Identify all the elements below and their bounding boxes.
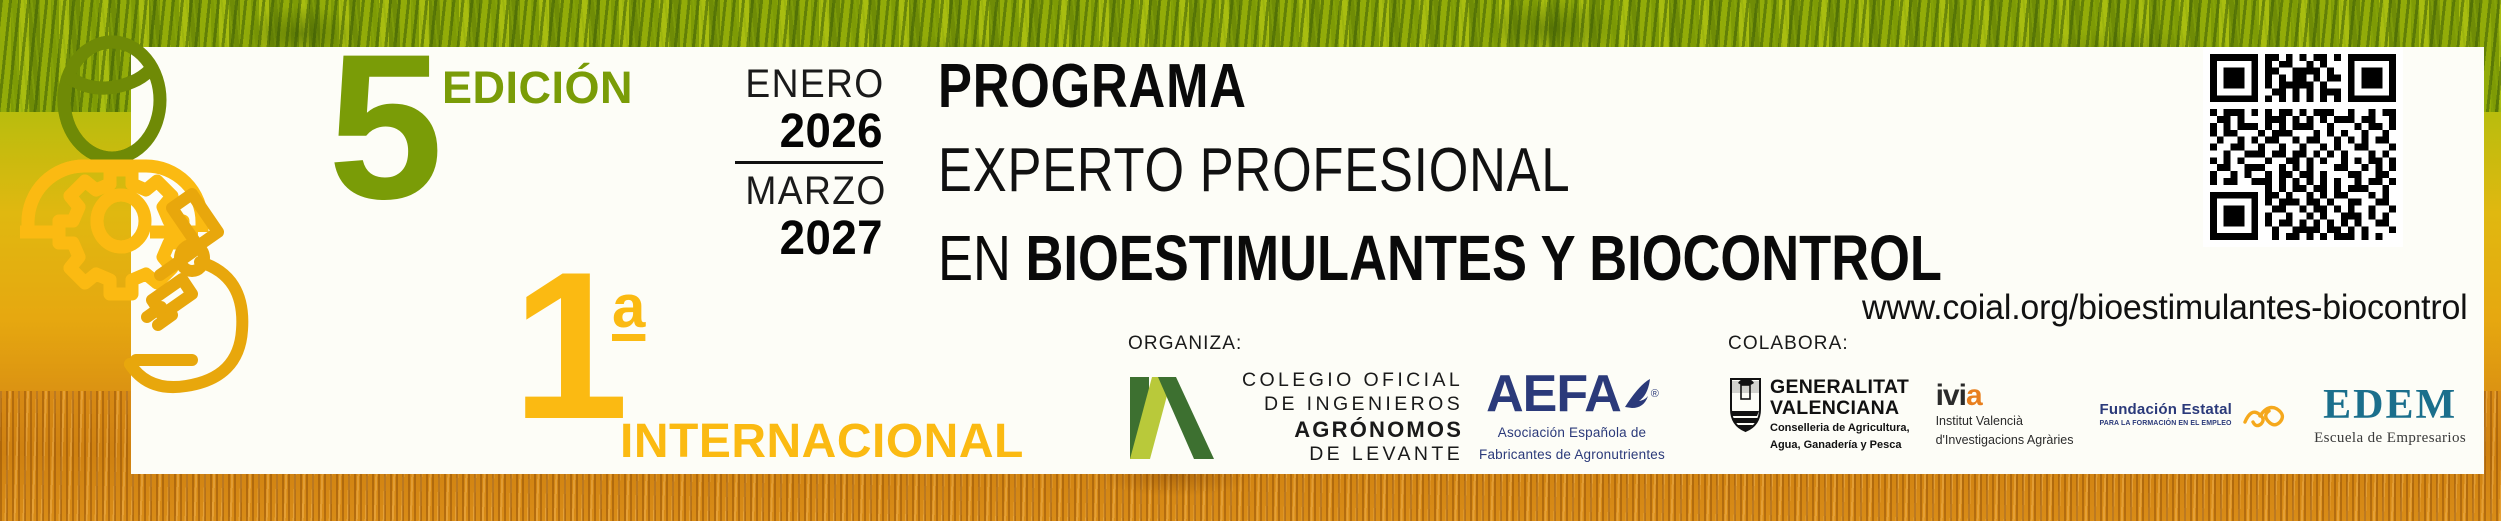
- qr-code-icon: [2203, 47, 2403, 247]
- ivia-sub-1: Institut Valencià: [1936, 414, 2074, 430]
- aefa-leaf-icon: [1621, 373, 1651, 415]
- title-line-experto: EXPERTO PROFESIONAL: [938, 140, 1942, 202]
- generalitat-sub-1: Conselleria de Agricultura,: [1770, 422, 1910, 435]
- international-ordinal: a: [612, 272, 645, 341]
- ivia-sub-2: d'Investigacions Agràries: [1936, 433, 2074, 449]
- ivia-word-prefix: ivi: [1936, 379, 1966, 412]
- title-line-bioestimulantes: EN BIOESTIMULANTES Y BIOCONTROL: [938, 226, 1942, 290]
- aefa-logo: AEFA ® Asociación Española de Fabricante…: [1472, 368, 1672, 464]
- title-line-programa: PROGRAMA: [938, 56, 1942, 118]
- organiza-label: ORGANIZA:: [1128, 333, 1463, 355]
- fundacion-estatal-logo: Fundación Estatal PARA LA FORMACIÓN EN E…: [2099, 402, 2288, 428]
- coial-line-1: COLEGIO OFICIAL: [1242, 369, 1463, 393]
- title-prefix-en: EN: [938, 222, 1025, 294]
- colabora-section: COLABORA: GENERALITAT VALENCIANA Consell…: [1728, 333, 2466, 452]
- ivia-wordmark: ivia: [1936, 381, 2074, 411]
- coial-line-3: AGRÓNOMOS: [1242, 417, 1463, 444]
- coial-line-4: DE LEVANTE: [1242, 443, 1463, 467]
- generalitat-shield-icon: [1728, 377, 1763, 433]
- edition-block: 5 EDICIÓN: [328, 42, 437, 212]
- edition-label: EDICIÓN: [442, 62, 633, 114]
- date-divider: [735, 161, 883, 164]
- generalitat-wordmark: GENERALITAT VALENCIANA Conselleria de Ag…: [1770, 377, 1910, 452]
- generalitat-line-1: GENERALITAT: [1770, 377, 1910, 398]
- title-main-subject: BIOESTIMULANTES Y BIOCONTROL: [1025, 222, 1942, 294]
- organiza-logos-row: COLEGIO OFICIAL DE INGENIEROS AGRÓNOMOS …: [1128, 369, 1463, 467]
- generalitat-line-2: VALENCIANA: [1770, 398, 1910, 419]
- ivia-logo: ivia Institut Valencià d'Investigacions …: [1936, 381, 2074, 448]
- edem-subtitle: Escuela de Empresarios: [2314, 431, 2466, 446]
- international-number: 1: [512, 262, 625, 430]
- website-url[interactable]: www.coial.org/bioestimulantes-biocontrol: [1862, 288, 2468, 328]
- aefa-registered-mark: ®: [1651, 389, 1658, 400]
- aefa-wordmark: AEFA ®: [1472, 368, 1672, 420]
- coial-wordmark: COLEGIO OFICIAL DE INGENIEROS AGRÓNOMOS …: [1242, 369, 1463, 467]
- colabora-logos-row: GENERALITAT VALENCIANA Conselleria de Ag…: [1728, 377, 2466, 452]
- coial-line-2: DE INGENIEROS: [1242, 393, 1463, 417]
- end-month: MARZO: [745, 169, 883, 214]
- program-title-block: PROGRAMA EXPERTO PROFESIONAL EN BIOESTIM…: [938, 56, 2162, 290]
- fundacion-line-1: Fundación Estatal: [2099, 402, 2232, 417]
- organiza-section: ORGANIZA: COLEGIO OFICIAL DE INGENIEROS …: [1128, 333, 1463, 467]
- colabora-label: COLABORA:: [1728, 333, 2466, 355]
- edem-wordmark: EDEM: [2314, 384, 2466, 426]
- coial-logo-icon: [1128, 373, 1224, 463]
- qr-code[interactable]: [2203, 47, 2403, 247]
- start-month: ENERO: [745, 62, 883, 107]
- end-year: 2027: [742, 214, 883, 264]
- date-range-block: ENERO 2026 MARZO 2027: [735, 62, 883, 264]
- generalitat-sub-2: Agua, Ganadería y Pesca: [1770, 439, 1910, 452]
- international-label: INTERNACIONAL: [620, 414, 1024, 469]
- ivia-word-accent: a: [1966, 379, 1982, 412]
- edition-number: 5: [328, 42, 437, 212]
- aefa-subtitle-1: Asociación Española de: [1472, 425, 1672, 442]
- banner-root: 5 EDICIÓN 1 a INTERNACIONAL ENERO 2026 M…: [0, 0, 2501, 521]
- aefa-text: AEFA: [1486, 368, 1621, 420]
- aefa-subtitle-2: Fabricantes de Agronutrientes: [1472, 447, 1672, 464]
- fundacion-wordmark: Fundación Estatal PARA LA FORMACIÓN EN E…: [2099, 402, 2232, 427]
- international-block: 1 a INTERNACIONAL: [512, 262, 625, 430]
- fundacion-line-2: PARA LA FORMACIÓN EN EL EMPLEO: [2099, 420, 2232, 427]
- fundacion-swirl-icon: [2242, 402, 2288, 428]
- edem-logo: EDEM Escuela de Empresarios: [2314, 384, 2466, 446]
- generalitat-valenciana-logo: GENERALITAT VALENCIANA Conselleria de Ag…: [1728, 377, 1910, 452]
- start-year: 2026: [742, 107, 883, 157]
